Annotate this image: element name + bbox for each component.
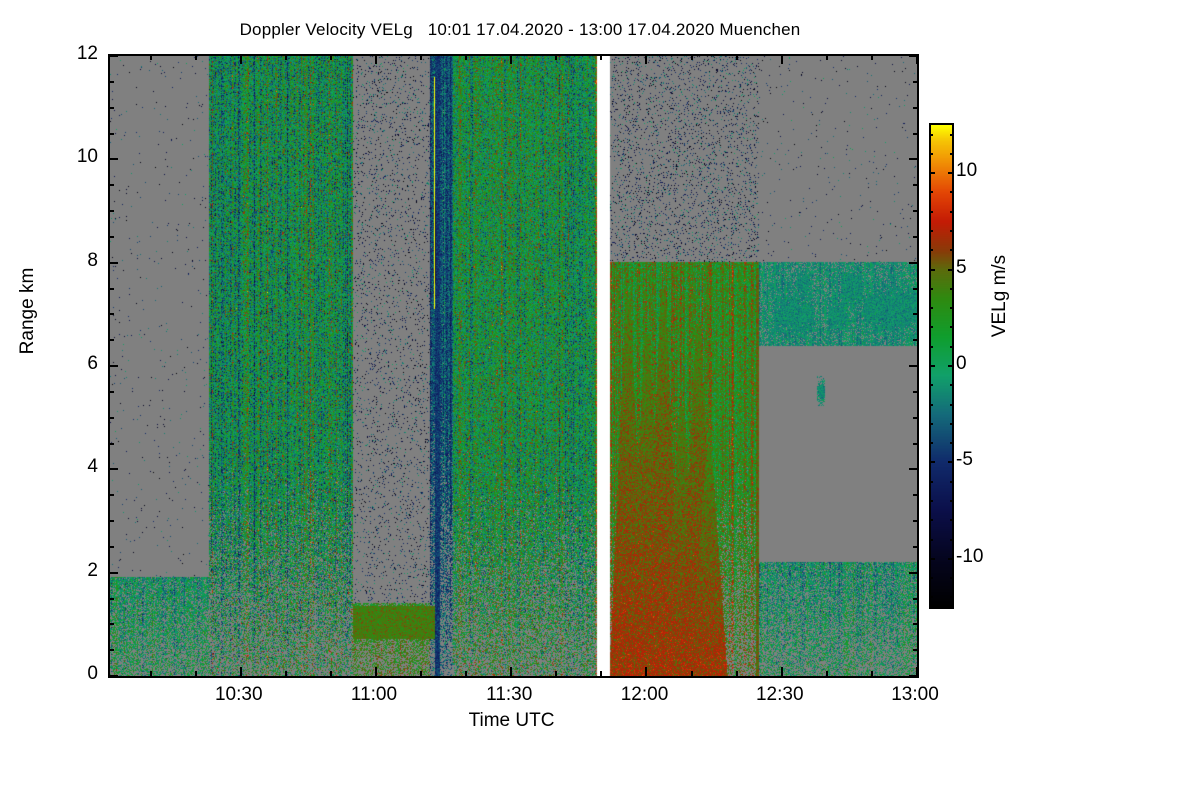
x-tick-minor bbox=[691, 55, 693, 60]
colorbar-tick-minor bbox=[950, 307, 954, 309]
x-tick-major bbox=[645, 667, 647, 676]
x-tick-minor bbox=[736, 671, 738, 676]
colorbar-tick-minor bbox=[930, 307, 933, 309]
colorbar-tick-minor bbox=[930, 481, 933, 483]
colorbar-tick-major bbox=[930, 269, 935, 271]
colorbar-ticklabel: 5 bbox=[956, 257, 967, 279]
colorbar-tick-minor bbox=[950, 481, 954, 483]
y-tick-minor bbox=[913, 339, 918, 341]
colorbar-tick-minor bbox=[950, 577, 954, 579]
y-tick-major bbox=[909, 365, 918, 367]
colorbar-tick-minor bbox=[930, 326, 933, 328]
x-ticklabel: 13:00 bbox=[891, 684, 939, 706]
colorbar-tick-minor bbox=[930, 230, 933, 232]
x-tick-minor bbox=[420, 55, 422, 60]
colorbar-tick-minor bbox=[950, 442, 954, 444]
x-tick-minor bbox=[465, 671, 467, 676]
y-tick-major bbox=[909, 468, 918, 470]
x-tick-minor bbox=[871, 55, 873, 60]
x-ticklabel: 10:30 bbox=[215, 684, 263, 706]
x-tick-major bbox=[375, 667, 377, 676]
colorbar-ticklabel: 0 bbox=[956, 353, 967, 375]
colorbar-tick-major bbox=[948, 461, 954, 463]
x-tick-major bbox=[916, 667, 918, 676]
colorbar-tick-major bbox=[930, 558, 935, 560]
x-tick-major bbox=[510, 55, 512, 64]
colorbar-tick-minor bbox=[950, 230, 954, 232]
y-tick-minor bbox=[913, 81, 918, 83]
colorbar-tick-minor bbox=[930, 384, 933, 386]
colorbar-tick-major bbox=[930, 365, 935, 367]
colorbar-tick-minor bbox=[950, 423, 954, 425]
y-tick-minor bbox=[913, 598, 918, 600]
x-tick-major bbox=[916, 55, 918, 64]
y-tick-minor bbox=[109, 443, 114, 445]
colorbar-tick-minor bbox=[950, 191, 954, 193]
colorbar-tick-minor bbox=[930, 519, 933, 521]
colorbar-tick-minor bbox=[930, 442, 933, 444]
x-tick-minor bbox=[600, 671, 602, 676]
y-tick-minor bbox=[109, 598, 114, 600]
y-tick-major bbox=[109, 262, 118, 264]
y-tick-minor bbox=[109, 546, 114, 548]
colorbar-tick-minor bbox=[950, 500, 954, 502]
y-tick-minor bbox=[913, 443, 918, 445]
y-tick-minor bbox=[109, 520, 114, 522]
colorbar-tick-minor bbox=[950, 153, 954, 155]
colorbar-frame bbox=[929, 123, 954, 609]
y-tick-major bbox=[909, 158, 918, 160]
y-tick-major bbox=[109, 158, 118, 160]
y-tick-minor bbox=[913, 133, 918, 135]
colorbar-tick-minor bbox=[950, 519, 954, 521]
y-ticklabel: 0 bbox=[10, 663, 98, 685]
y-tick-minor bbox=[109, 210, 114, 212]
colorbar-tick-minor bbox=[950, 539, 954, 541]
y-tick-minor bbox=[913, 236, 918, 238]
colorbar-tick-minor bbox=[950, 288, 954, 290]
colorbar-tick-minor bbox=[950, 596, 954, 598]
y-tick-major bbox=[109, 365, 118, 367]
y-tick-minor bbox=[913, 520, 918, 522]
x-tick-minor bbox=[330, 55, 332, 60]
figure-root: Doppler Velocity VELg 10:01 17.04.2020 -… bbox=[0, 0, 1200, 800]
y-tick-minor bbox=[109, 236, 114, 238]
y-ticklabel: 4 bbox=[10, 456, 98, 478]
colorbar-tick-minor bbox=[930, 423, 933, 425]
x-tick-major bbox=[510, 667, 512, 676]
colorbar[interactable] bbox=[929, 123, 954, 609]
x-tick-major bbox=[645, 55, 647, 64]
x-tick-minor bbox=[691, 671, 693, 676]
y-tick-minor bbox=[913, 210, 918, 212]
y-tick-minor bbox=[913, 494, 918, 496]
colorbar-tick-major bbox=[948, 558, 954, 560]
colorbar-tick-major bbox=[948, 172, 954, 174]
y-tick-minor bbox=[109, 133, 114, 135]
colorbar-tick-minor bbox=[950, 384, 954, 386]
y-tick-minor bbox=[913, 313, 918, 315]
x-tick-minor bbox=[195, 671, 197, 676]
x-tick-major bbox=[781, 55, 783, 64]
y-tick-minor bbox=[109, 288, 114, 290]
x-ticklabel: 11:30 bbox=[486, 684, 532, 706]
colorbar-tick-minor bbox=[930, 500, 933, 502]
x-tick-minor bbox=[150, 671, 152, 676]
y-ticklabel: 2 bbox=[10, 560, 98, 582]
colorbar-tick-minor bbox=[950, 211, 954, 213]
colorbar-tick-minor bbox=[950, 326, 954, 328]
y-tick-major bbox=[909, 572, 918, 574]
y-tick-minor bbox=[109, 623, 114, 625]
colorbar-tick-minor bbox=[950, 249, 954, 251]
colorbar-tick-major bbox=[948, 365, 954, 367]
colorbar-tick-major bbox=[948, 269, 954, 271]
y-tick-minor bbox=[109, 649, 114, 651]
heatmap-canvas[interactable] bbox=[110, 56, 917, 676]
x-tick-minor bbox=[600, 55, 602, 60]
y-ticklabel: 12 bbox=[10, 43, 98, 65]
x-ticklabel: 12:30 bbox=[756, 684, 804, 706]
colorbar-ticklabel: 10 bbox=[956, 160, 977, 182]
x-tick-minor bbox=[195, 55, 197, 60]
x-tick-major bbox=[240, 667, 242, 676]
x-tick-minor bbox=[871, 671, 873, 676]
colorbar-tick-minor bbox=[950, 346, 954, 348]
colorbar-tick-major bbox=[930, 461, 935, 463]
colorbar-tick-minor bbox=[950, 404, 954, 406]
y-tick-minor bbox=[913, 288, 918, 290]
colorbar-tick-minor bbox=[950, 134, 954, 136]
colorbar-tick-major bbox=[930, 172, 935, 174]
y-tick-minor bbox=[109, 313, 114, 315]
y-tick-minor bbox=[913, 649, 918, 651]
y-axis-ticklabels: 024681012 bbox=[0, 54, 98, 674]
y-tick-minor bbox=[109, 184, 114, 186]
colorbar-tick-minor bbox=[930, 404, 933, 406]
x-tick-minor bbox=[465, 55, 467, 60]
y-tick-major bbox=[909, 262, 918, 264]
colorbar-ticklabel: -5 bbox=[956, 449, 973, 471]
colorbar-tick-minor bbox=[930, 191, 933, 193]
y-tick-minor bbox=[913, 184, 918, 186]
y-tick-minor bbox=[109, 391, 114, 393]
velocity-heatmap-panel[interactable] bbox=[108, 54, 919, 678]
colorbar-tick-minor bbox=[930, 346, 933, 348]
colorbar-tick-minor bbox=[930, 288, 933, 290]
x-tick-minor bbox=[285, 671, 287, 676]
colorbar-tick-minor bbox=[930, 577, 933, 579]
y-ticklabel: 10 bbox=[10, 146, 98, 168]
x-tick-minor bbox=[330, 671, 332, 676]
y-tick-minor bbox=[109, 339, 114, 341]
x-tick-major bbox=[781, 667, 783, 676]
x-tick-major bbox=[240, 55, 242, 64]
x-tick-minor bbox=[555, 55, 557, 60]
colorbar-tick-minor bbox=[930, 153, 933, 155]
y-tick-minor bbox=[109, 494, 114, 496]
y-tick-minor bbox=[109, 81, 114, 83]
colorbar-title: VELg m/s bbox=[989, 206, 1011, 386]
figure-title: Doppler Velocity VELg 10:01 17.04.2020 -… bbox=[0, 20, 1040, 40]
y-tick-minor bbox=[109, 417, 114, 419]
y-tick-major bbox=[109, 675, 118, 677]
x-axis-ticklabels: 10:3011:0011:3012:0012:3013:00 bbox=[108, 684, 915, 710]
x-tick-minor bbox=[736, 55, 738, 60]
x-axis-title: Time UTC bbox=[108, 710, 915, 732]
colorbar-ticklabel: -10 bbox=[956, 546, 983, 568]
y-tick-minor bbox=[913, 417, 918, 419]
x-tick-minor bbox=[555, 671, 557, 676]
x-tick-minor bbox=[826, 55, 828, 60]
x-tick-minor bbox=[420, 671, 422, 676]
y-tick-minor bbox=[913, 623, 918, 625]
y-tick-minor bbox=[913, 546, 918, 548]
colorbar-tick-minor bbox=[930, 134, 933, 136]
x-ticklabel: 11:00 bbox=[351, 684, 397, 706]
y-tick-major bbox=[109, 468, 118, 470]
x-tick-minor bbox=[285, 55, 287, 60]
y-tick-minor bbox=[913, 107, 918, 109]
colorbar-tick-minor bbox=[930, 249, 933, 251]
colorbar-tick-minor bbox=[930, 539, 933, 541]
colorbar-tick-minor bbox=[930, 211, 933, 213]
x-tick-minor bbox=[150, 55, 152, 60]
colorbar-tick-minor bbox=[930, 596, 933, 598]
y-tick-major bbox=[109, 55, 118, 57]
y-tick-major bbox=[109, 572, 118, 574]
y-tick-minor bbox=[913, 391, 918, 393]
x-tick-minor bbox=[826, 671, 828, 676]
y-axis-title: Range km bbox=[17, 221, 39, 401]
x-ticklabel: 12:00 bbox=[621, 684, 669, 706]
y-tick-minor bbox=[109, 107, 114, 109]
x-tick-major bbox=[375, 55, 377, 64]
